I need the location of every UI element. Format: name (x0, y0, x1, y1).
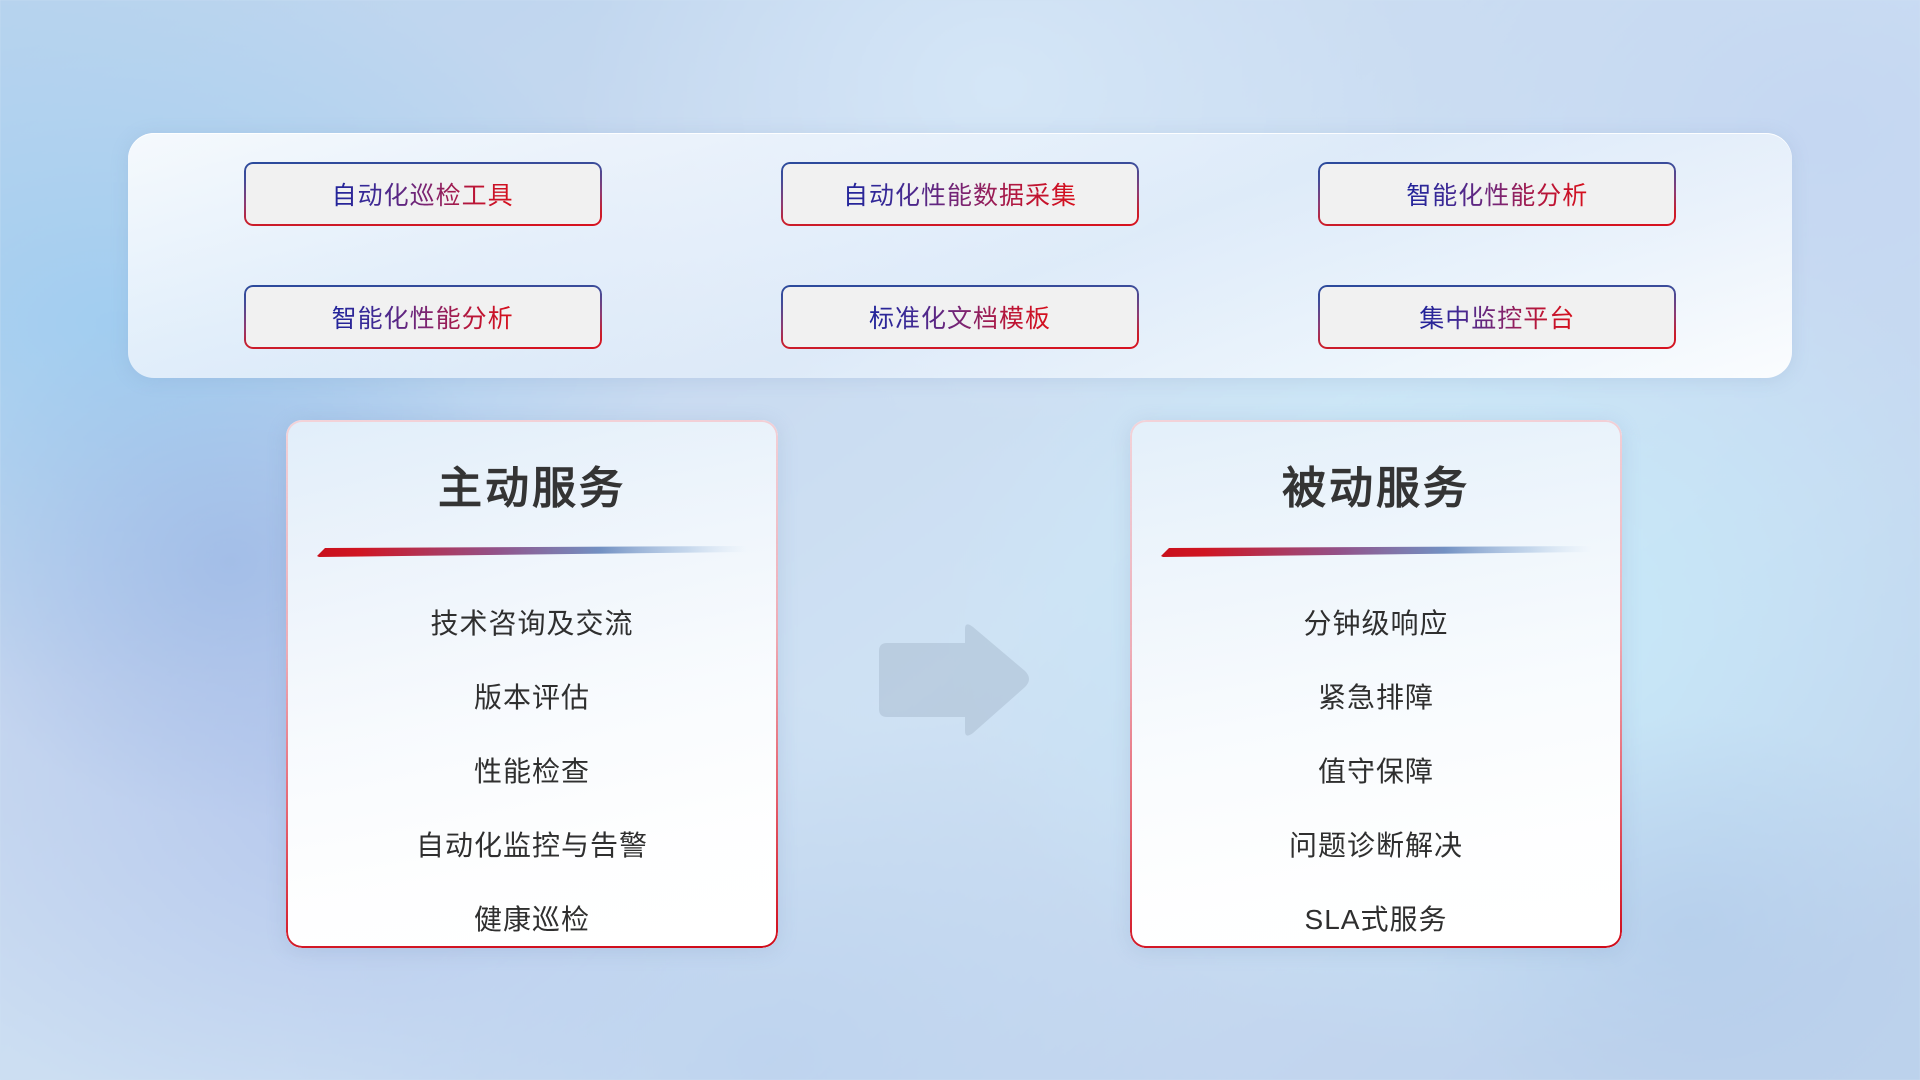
card-divider (317, 546, 747, 557)
list-item: 自动化监控与告警 (286, 809, 778, 883)
capability-chip-standard-doc-template[interactable]: 标准化文档模板 (781, 285, 1139, 349)
list-item: 版本评估 (286, 661, 778, 735)
list-item: 分钟级响应 (1130, 587, 1622, 661)
capability-chip-label: 自动化巡检工具 (332, 176, 514, 212)
service-list-passive: 分钟级响应 紧急排障 值守保障 问题诊断解决 SLA式服务 (1130, 587, 1622, 948)
list-item: 技术咨询及交流 (286, 587, 778, 661)
capability-chip-label: 智能化性能分析 (332, 299, 514, 335)
list-item: 问题诊断解决 (1130, 809, 1622, 883)
list-item: SLA式服务 (1130, 883, 1622, 948)
capability-chip-intelligent-perf-analysis[interactable]: 智能化性能分析 (1318, 162, 1676, 226)
capability-chip-label: 智能化性能分析 (1406, 176, 1588, 212)
arrow-right-icon (873, 621, 1033, 741)
card-title: 被动服务 (1130, 452, 1622, 516)
service-list-active: 技术咨询及交流 版本评估 性能检查 自动化监控与告警 健康巡检 (286, 587, 778, 948)
capability-chip-auto-perf-data-collect[interactable]: 自动化性能数据采集 (781, 162, 1139, 226)
capability-chip-intelligent-perf-analysis-2[interactable]: 智能化性能分析 (244, 285, 602, 349)
capability-chip-auto-inspection-tool[interactable]: 自动化巡检工具 (244, 162, 602, 226)
list-item: 健康巡检 (286, 883, 778, 948)
list-item: 值守保障 (1130, 735, 1622, 809)
list-item: 性能检查 (286, 735, 778, 809)
card-title: 主动服务 (286, 452, 778, 516)
service-card-passive: 被动服务 分钟级响应 紧急排障 值守保障 问题诊断解决 SLA式服务 (1130, 420, 1622, 948)
list-item: 紧急排障 (1130, 661, 1622, 735)
capability-chip-central-monitor-platform[interactable]: 集中监控平台 (1318, 285, 1676, 349)
capability-panel: 自动化巡检工具 自动化性能数据采集 智能化性能分析 智能化性能分析 标准化文档模… (128, 133, 1792, 378)
capability-chip-label: 标准化文档模板 (869, 299, 1051, 335)
capability-chip-label: 自动化性能数据采集 (843, 176, 1077, 212)
capability-chip-label: 集中监控平台 (1419, 299, 1575, 335)
card-divider (1161, 546, 1591, 557)
service-card-active: 主动服务 技术咨询及交流 版本评估 性能检查 自动化监控与告警 健康巡检 (286, 420, 778, 948)
